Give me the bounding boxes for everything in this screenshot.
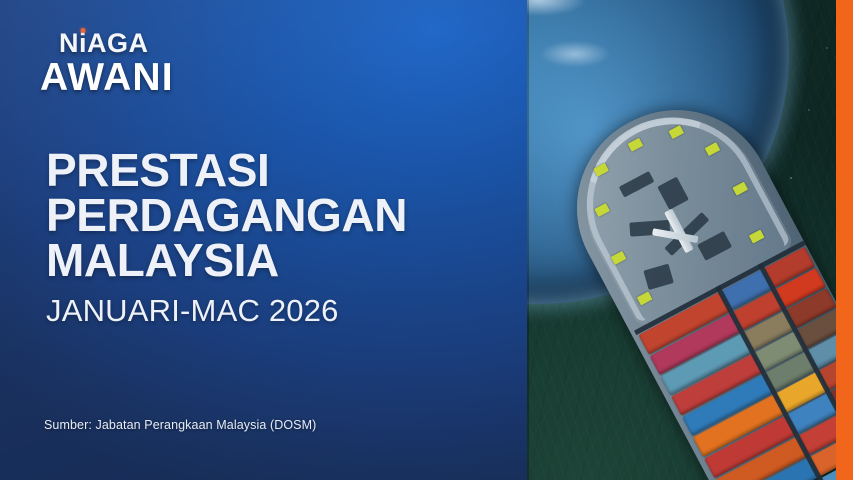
headline-line-3: MALAYSIA [46, 238, 516, 283]
source-attribution: Sumber: Jabatan Perangkaan Malaysia (DOS… [44, 418, 316, 432]
headline-line-2: PERDAGANGAN [46, 193, 516, 238]
headline-line-1: PRESTASI [46, 148, 516, 193]
hero-photo-container-ship-earth [527, 0, 836, 480]
logo-accent-dot-icon [81, 28, 86, 33]
slide-root: NiAGA AWANI PRESTASI PERDAGANGAN MALAYSI… [0, 0, 853, 480]
logo-letter-i: i [79, 30, 87, 57]
logo-niaga-wordmark: NiAGA [59, 30, 174, 57]
left-content-panel: NiAGA AWANI PRESTASI PERDAGANGAN MALAYSI… [0, 0, 530, 480]
logo-letters-aga: AGA [87, 28, 149, 58]
accent-bar-right [836, 0, 853, 480]
niaga-awani-logo: NiAGA AWANI [40, 30, 174, 97]
logo-letter-n: N [59, 28, 79, 58]
headline-block: PRESTASI PERDAGANGAN MALAYSIA JANUARI-MA… [46, 148, 516, 326]
headline-subtitle-period: JANUARI-MAC 2026 [46, 295, 516, 326]
logo-awani-wordmark: AWANI [40, 58, 174, 97]
panel-divider [527, 0, 529, 480]
